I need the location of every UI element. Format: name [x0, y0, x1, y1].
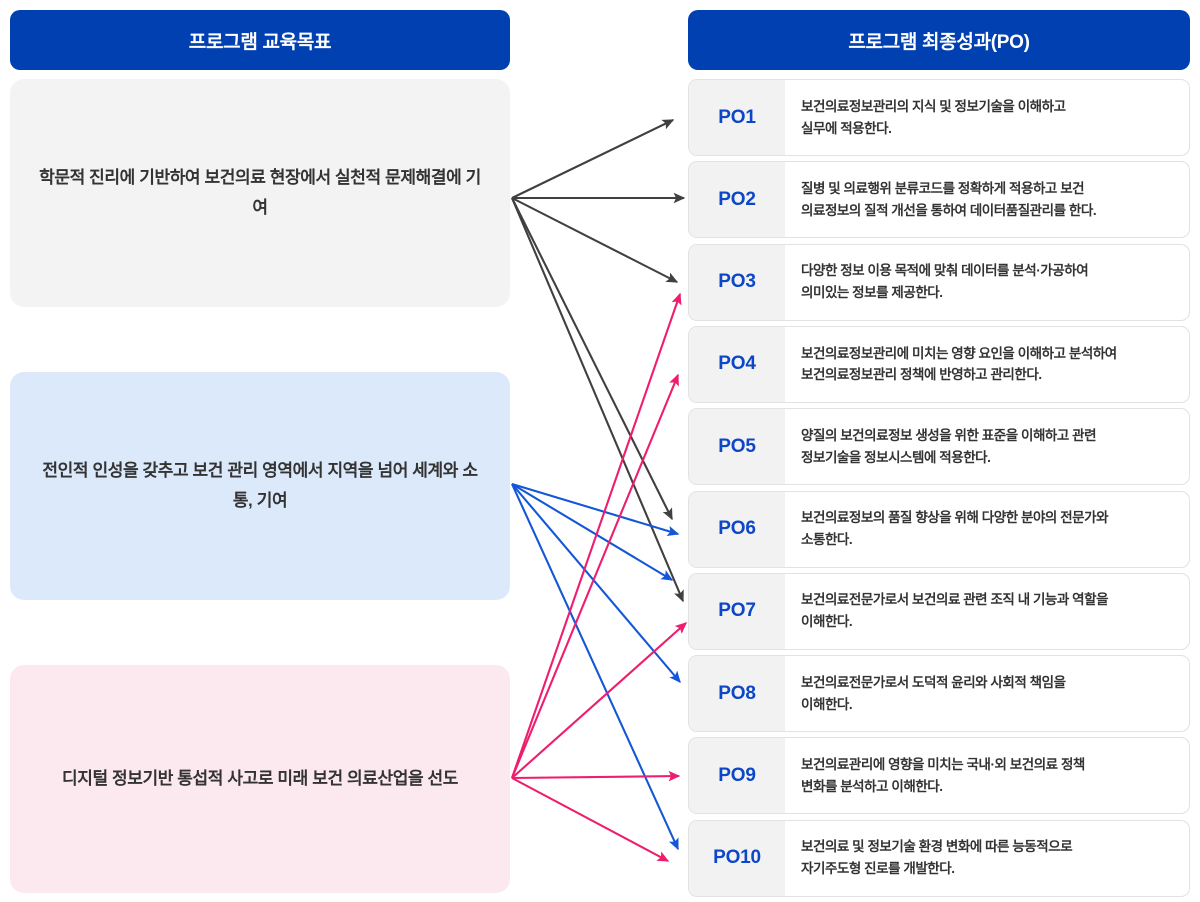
po-row: PO3다양한 정보 이용 목적에 맞춰 데이터를 분석·가공하여 의미있는 정보…	[688, 244, 1190, 321]
po-code-label: PO9	[689, 738, 785, 813]
arrow-goal-1-to-po1	[512, 120, 673, 198]
po-description: 보건의료전문가로서 보건의료 관련 조직 내 기능과 역할을 이해한다.	[785, 574, 1189, 649]
left-column-header: 프로그램 교육목표	[10, 10, 510, 70]
po-row: PO9보건의료관리에 영향을 미치는 국내·외 보건의료 정책 변화를 분석하고…	[688, 737, 1190, 814]
arrow-goal-1-to-po6	[512, 198, 672, 519]
po-row: PO4보건의료정보관리에 미치는 영향 요인을 이해하고 분석하여 보건의료정보…	[688, 326, 1190, 403]
po-description: 보건의료전문가로서 도덕적 윤리와 사회적 책임을 이해한다.	[785, 656, 1189, 731]
po-row: PO7보건의료전문가로서 보건의료 관련 조직 내 기능과 역할을 이해한다.	[688, 573, 1190, 650]
po-description: 보건의료정보관리의 지식 및 정보기술을 이해하고 실무에 적용한다.	[785, 80, 1189, 155]
po-code-label: PO8	[689, 656, 785, 731]
po-row: PO2질병 및 의료행위 분류코드를 정확하게 적용하고 보건 의료정보의 질적…	[688, 161, 1190, 238]
po-code-label: PO5	[689, 409, 785, 484]
po-code-label: PO2	[689, 162, 785, 237]
po-row: PO6보건의료정보의 품질 향상을 위해 다양한 분야의 전문가와 소통한다.	[688, 491, 1190, 568]
po-row: PO1보건의료정보관리의 지식 및 정보기술을 이해하고 실무에 적용한다.	[688, 79, 1190, 156]
arrow-goal-3-to-po7	[512, 623, 686, 778]
goal-box-1: 학문적 진리에 기반하여 보건의료 현장에서 실천적 문제해결에 기여	[10, 79, 510, 307]
arrow-goal-3-to-po3	[512, 294, 680, 778]
po-code-label: PO6	[689, 492, 785, 567]
arrow-goal-3-to-po4	[512, 375, 678, 778]
right-column: 프로그램 최종성과(PO)	[688, 10, 1190, 70]
po-code-label: PO3	[689, 245, 785, 320]
goal-box-3: 디지털 정보기반 통섭적 사고로 미래 보건 의료산업을 선도	[10, 665, 510, 893]
goal-box-2: 전인적 인성을 갖추고 보건 관리 영역에서 지역을 넘어 세계와 소통, 기여	[10, 372, 510, 600]
left-column: 프로그램 교육목표	[10, 10, 510, 70]
po-row: PO8보건의료전문가로서 도덕적 윤리와 사회적 책임을 이해한다.	[688, 655, 1190, 732]
po-description: 보건의료정보관리에 미치는 영향 요인을 이해하고 분석하여 보건의료정보관리 …	[785, 327, 1189, 402]
arrow-goal-2-to-po6	[512, 484, 678, 534]
arrow-goal-2-to-po7	[512, 484, 672, 580]
po-code-label: PO10	[689, 821, 785, 896]
po-code-label: PO4	[689, 327, 785, 402]
po-code-label: PO1	[689, 80, 785, 155]
po-code-label: PO7	[689, 574, 785, 649]
po-description: 보건의료 및 정보기술 환경 변화에 따른 능동적으로 자기주도형 진로를 개발…	[785, 821, 1189, 896]
arrow-goal-3-to-po10	[512, 778, 668, 861]
arrow-goal-1-to-po7	[512, 198, 683, 601]
diagram-root: 프로그램 교육목표 학문적 진리에 기반하여 보건의료 현장에서 실천적 문제해…	[0, 0, 1200, 902]
arrow-goal-2-to-po10	[512, 484, 678, 849]
po-description: 양질의 보건의료정보 생성을 위한 표준을 이해하고 관련 정보기술을 정보시스…	[785, 409, 1189, 484]
po-description: 보건의료관리에 영향을 미치는 국내·외 보건의료 정책 변화를 분석하고 이해…	[785, 738, 1189, 813]
arrow-goal-1-to-po3	[512, 198, 677, 282]
po-description: 다양한 정보 이용 목적에 맞춰 데이터를 분석·가공하여 의미있는 정보를 제…	[785, 245, 1189, 320]
po-description: 보건의료정보의 품질 향상을 위해 다양한 분야의 전문가와 소통한다.	[785, 492, 1189, 567]
right-column-header: 프로그램 최종성과(PO)	[688, 10, 1190, 70]
arrow-goal-3-to-po9	[512, 776, 679, 778]
po-row: PO5양질의 보건의료정보 생성을 위한 표준을 이해하고 관련 정보기술을 정…	[688, 408, 1190, 485]
po-row: PO10보건의료 및 정보기술 환경 변화에 따른 능동적으로 자기주도형 진로…	[688, 820, 1190, 897]
arrow-goal-2-to-po8	[512, 484, 680, 682]
po-description: 질병 및 의료행위 분류코드를 정확하게 적용하고 보건 의료정보의 질적 개선…	[785, 162, 1189, 237]
